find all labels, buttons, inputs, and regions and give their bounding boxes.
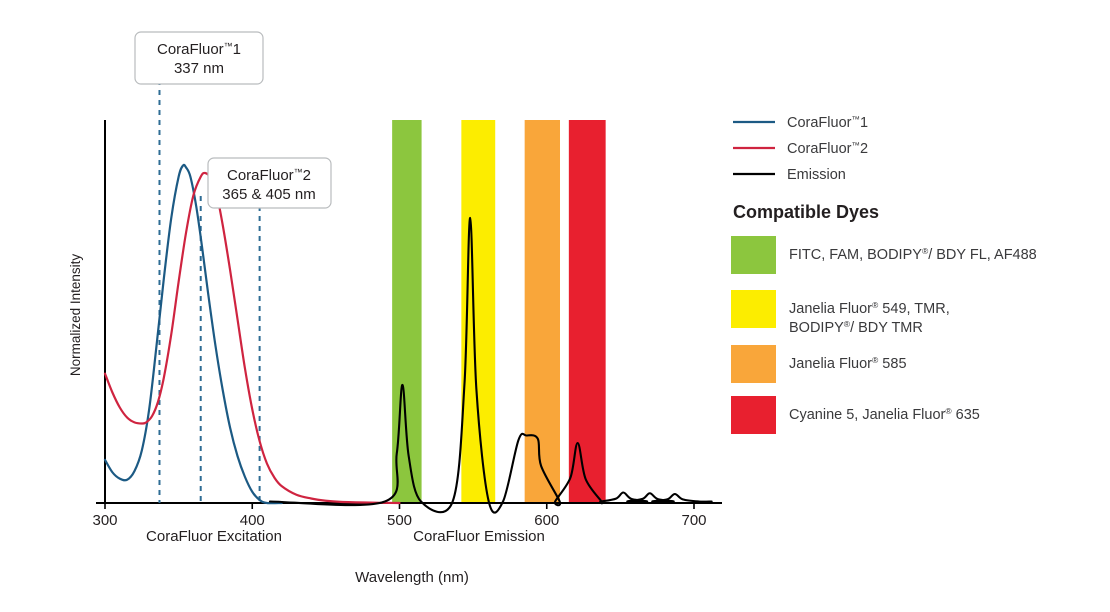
y-axis-title: Normalized Intensity	[68, 254, 83, 377]
compatible-dyes-heading: Compatible Dyes	[733, 202, 879, 222]
region-label-emission: CoraFluor Emission	[413, 528, 545, 545]
dye-swatch-1	[731, 236, 776, 274]
dye-label-2-line-1: Janelia Fluor® 549, TMR,	[789, 300, 950, 317]
dye-swatch-3	[731, 345, 776, 383]
x-tick-label-700: 700	[681, 512, 706, 529]
x-tick-label-300: 300	[92, 512, 117, 529]
dye-label-1-line-1: FITC, FAM, BODIPY®/ BDY FL, AF488	[789, 246, 1037, 263]
red-band	[569, 120, 606, 503]
corafluor2-callout-line2: 365 & 405 nm	[222, 186, 315, 203]
dye-label-4-line-1: Cyanine 5, Janelia Fluor® 635	[789, 406, 980, 423]
dye-label-3-line-1: Janelia Fluor® 585	[789, 355, 907, 372]
x-tick-label-400: 400	[240, 512, 265, 529]
x-tick-label-500: 500	[387, 512, 412, 529]
dye-swatch-4	[731, 396, 776, 434]
orange-band	[525, 120, 560, 503]
dye-label-2-line-2: BODIPY®/ BDY TMR	[789, 319, 923, 336]
fluorescence-spectra-figure: 300400500600700 Normalized Intensity Cor…	[0, 0, 1110, 612]
legend-label-3: Emission	[787, 167, 846, 183]
dye-swatch-2	[731, 290, 776, 328]
x-tick-label-600: 600	[534, 512, 559, 529]
corafluor1-callout-line2: 337 nm	[174, 60, 224, 77]
x-axis-title: Wavelength (nm)	[355, 569, 469, 586]
region-label-excitation: CoraFluor Excitation	[146, 528, 282, 545]
